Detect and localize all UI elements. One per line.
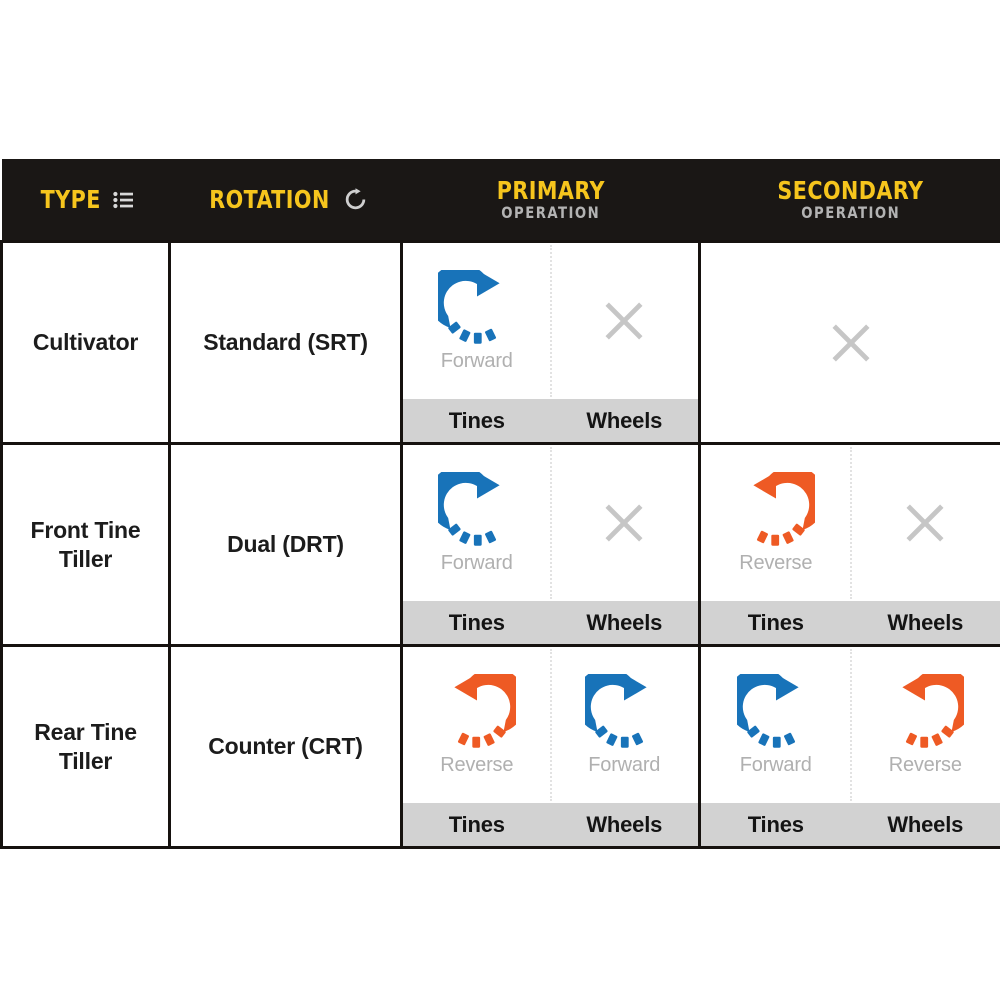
x-icon <box>603 300 645 342</box>
col-header-rotation: ROTATION <box>170 159 402 242</box>
cell-secondary-operation <box>700 242 1000 444</box>
x-icon <box>904 502 946 544</box>
tines-slot: Forward <box>701 647 851 803</box>
footer-label-wheels: Wheels <box>551 812 699 838</box>
rotate-reverse-icon <box>886 674 964 752</box>
rotate-forward-icon <box>737 674 815 752</box>
rotation-caption: Reverse <box>889 754 962 777</box>
col-header-secondary: SECONDARY OPERATION <box>700 159 1000 242</box>
wheels-slot: Forward <box>551 647 699 803</box>
rotation-caption: Forward <box>441 552 513 575</box>
operation-footer: Tines Wheels <box>701 803 1000 846</box>
table-header: TYPE ROTATION <box>2 159 1000 242</box>
rotate-reverse-icon <box>737 472 815 550</box>
col-header-type-label: TYPE <box>41 185 101 214</box>
footer-label-tines: Tines <box>403 610 551 636</box>
cell-type: Cultivator <box>2 242 170 444</box>
wheels-slot: Reverse <box>851 647 1000 803</box>
tines-slot: Reverse <box>403 647 551 803</box>
whole-slot <box>830 322 872 364</box>
rotation-caption: Forward <box>740 754 812 777</box>
footer-label-tines: Tines <box>701 812 851 838</box>
wheels-slot <box>551 445 699 601</box>
cell-primary-operation: Forward Tines <box>402 444 700 646</box>
table-row: Front Tine Tiller Dual (DRT) <box>2 444 1000 646</box>
wheels-slot <box>851 445 1000 601</box>
wheels-slot <box>551 243 699 399</box>
refresh-cw-icon <box>344 188 367 211</box>
footer-label-wheels: Wheels <box>851 812 1000 838</box>
cell-secondary-operation: Forward <box>700 646 1000 848</box>
table-row: Cultivator Standard (SRT) <box>2 242 1000 444</box>
cell-type-line1: Rear Tine <box>3 718 168 747</box>
rotation-caption: Reverse <box>440 754 513 777</box>
rotation-caption: Forward <box>441 350 513 373</box>
col-header-primary-label: PRIMARY <box>496 178 604 204</box>
cell-rotation: Dual (DRT) <box>170 444 402 646</box>
cell-rotation: Standard (SRT) <box>170 242 402 444</box>
footer-label-tines: Tines <box>403 812 551 838</box>
x-icon <box>603 502 645 544</box>
cell-type-line2: Tiller <box>3 545 168 574</box>
spec-table: TYPE ROTATION <box>0 159 1000 849</box>
rotate-forward-icon <box>438 270 516 348</box>
operation-footer: Tines Wheels <box>403 399 698 442</box>
footer-label-tines: Tines <box>701 610 851 636</box>
footer-label-tines: Tines <box>403 408 551 434</box>
footer-label-wheels: Wheels <box>851 610 1000 636</box>
rotation-caption: Reverse <box>739 552 812 575</box>
operation-footer: Tines Wheels <box>403 601 698 644</box>
table-row: Rear Tine Tiller Counter (CRT) <box>2 646 1000 848</box>
operation-footer: Tines Wheels <box>403 803 698 846</box>
cell-type-line1: Front Tine <box>3 516 168 545</box>
rotate-forward-icon <box>438 472 516 550</box>
col-header-rotation-label: ROTATION <box>209 185 329 214</box>
table-header-row: TYPE ROTATION <box>2 159 1000 242</box>
cell-secondary-operation: Reverse Tines <box>700 444 1000 646</box>
x-icon <box>830 322 872 364</box>
cell-type-line2: Tiller <box>3 747 168 776</box>
rotate-reverse-icon <box>438 674 516 752</box>
footer-label-wheels: Wheels <box>551 408 699 434</box>
tines-slot: Reverse <box>701 445 851 601</box>
table-body: Cultivator Standard (SRT) <box>2 242 1000 848</box>
tines-slot: Forward <box>403 243 551 399</box>
footer-label-wheels: Wheels <box>551 610 699 636</box>
cell-rotation: Counter (CRT) <box>170 646 402 848</box>
rotation-comparison-table: TYPE ROTATION <box>0 159 1000 849</box>
cell-type: Front Tine Tiller <box>2 444 170 646</box>
cell-primary-operation: Forward Tines <box>402 242 700 444</box>
rotate-forward-icon <box>585 674 663 752</box>
col-header-type: TYPE <box>2 159 170 242</box>
list-icon <box>113 191 133 209</box>
tines-slot: Forward <box>403 445 551 601</box>
col-header-primary-sublabel: OPERATION <box>501 205 600 221</box>
cell-type: Rear Tine Tiller <box>2 646 170 848</box>
col-header-secondary-sublabel: OPERATION <box>801 205 900 221</box>
col-header-primary: PRIMARY OPERATION <box>402 159 700 242</box>
cell-primary-operation: Reverse <box>402 646 700 848</box>
rotation-caption: Forward <box>588 754 660 777</box>
col-header-secondary-label: SECONDARY <box>777 178 923 204</box>
operation-footer: Tines Wheels <box>701 601 1000 644</box>
